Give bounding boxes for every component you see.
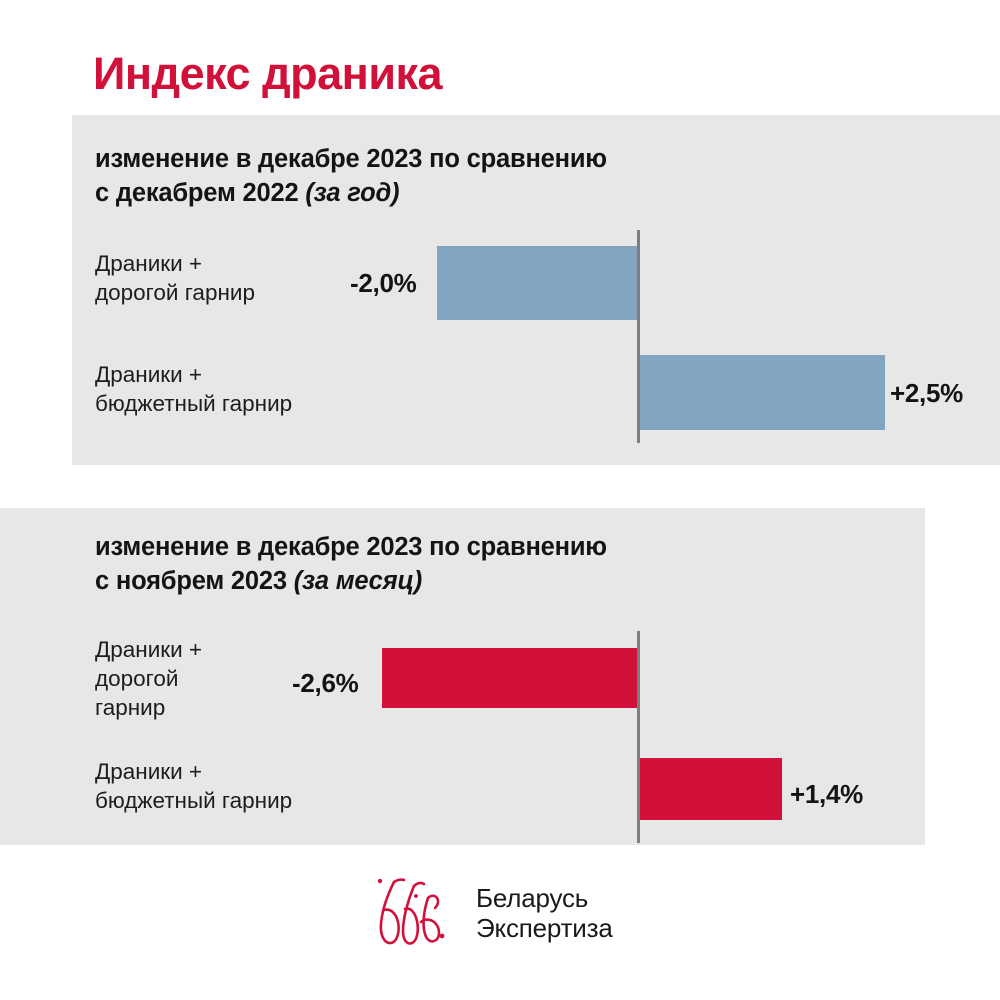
brand-logo-text: Беларусь Экспертиза — [476, 883, 613, 943]
bar-label-line1: Драники + — [95, 637, 202, 662]
chart-heading-monthly: изменение в декабре 2023 по сравнению с … — [95, 531, 607, 599]
brand-line1: Беларусь — [476, 883, 588, 913]
chart-heading-line1: изменение в декабре 2023 по сравнению — [95, 145, 607, 173]
bar-label-line1: Драники + — [95, 759, 202, 784]
bar-value-yearly-budget: +2,5% — [890, 378, 963, 409]
bar-value-monthly-expensive: -2,6% — [292, 668, 358, 699]
bar-label-monthly-expensive: Драники + дорогой гарнир — [95, 636, 202, 722]
bar-monthly-budget — [640, 758, 782, 820]
bar-label-yearly-expensive: Драники + дорогой гарнир — [95, 250, 255, 308]
bar-label-line2: дорогой — [95, 666, 178, 691]
bar-label-line3: гарнир — [95, 695, 165, 720]
brand-logo: Беларусь Экспертиза — [370, 872, 640, 954]
chart-panel-yearly: изменение в декабре 2023 по сравнению с … — [72, 115, 1000, 465]
bar-label-line1: Драники + — [95, 251, 202, 276]
bar-yearly-budget — [640, 355, 885, 430]
bar-label-monthly-budget: Драники + бюджетный гарнир — [95, 758, 292, 816]
brand-line2: Экспертиза — [476, 913, 613, 943]
bar-yearly-expensive — [437, 246, 637, 320]
bar-label-line2: бюджетный гарнир — [95, 391, 292, 416]
chart-heading-line2: с ноябрем 2023 — [95, 567, 294, 595]
chart-heading-line1: изменение в декабре 2023 по сравнению — [95, 533, 607, 561]
chart-heading-period: (за год) — [305, 179, 399, 207]
chart-heading-yearly: изменение в декабре 2023 по сравнению с … — [95, 143, 607, 211]
chart-heading-line2: с декабрем 2022 — [95, 179, 305, 207]
bar-value-yearly-expensive: -2,0% — [350, 268, 416, 299]
be-monogram-icon — [370, 874, 462, 952]
bar-label-line2: дорогой гарнир — [95, 280, 255, 305]
infographic-root: Индекс драника изменение в декабре 2023 … — [0, 0, 1000, 1000]
bar-label-line1: Драники + — [95, 362, 202, 387]
bar-label-line2: бюджетный гарнир — [95, 788, 292, 813]
bar-label-yearly-budget: Драники + бюджетный гарнир — [95, 361, 292, 419]
chart-panel-monthly: изменение в декабре 2023 по сравнению с … — [0, 508, 925, 845]
bar-monthly-expensive — [382, 648, 637, 708]
chart-heading-period: (за месяц) — [294, 567, 422, 595]
page-title: Индекс драника — [93, 50, 442, 97]
bar-value-monthly-budget: +1,4% — [790, 779, 863, 810]
